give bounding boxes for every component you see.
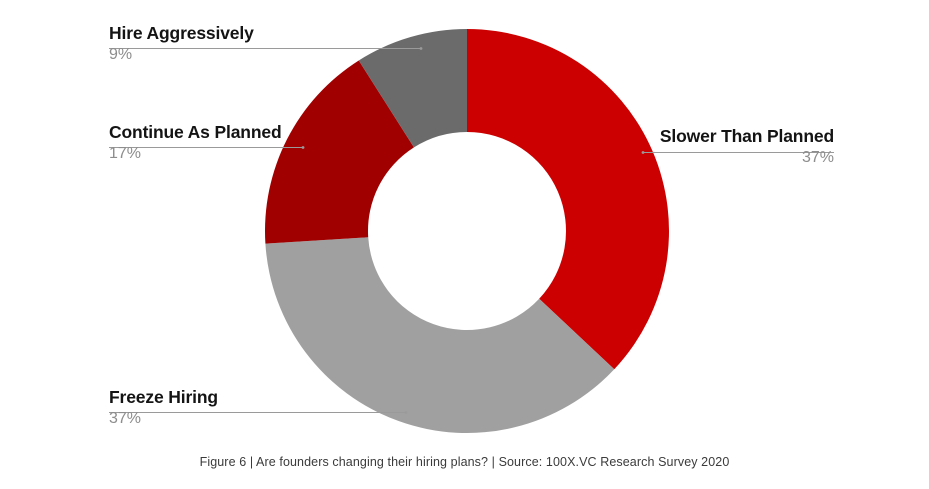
slice-label-value: 9%: [109, 45, 254, 65]
figure-caption: Figure 6 | Are founders changing their h…: [0, 455, 929, 469]
slice-label-title: Slower Than Planned: [643, 126, 834, 146]
leader-dot-continue-as-planned: [302, 146, 305, 149]
slice-label-continue-as-planned: Continue As Planned 17%: [109, 122, 281, 164]
donut-slice-slower-than-planned[interactable]: [467, 29, 669, 369]
slice-label-title: Continue As Planned: [109, 122, 281, 142]
donut-chart-figure: Hire Aggressively 9% Continue As Planned…: [0, 0, 929, 489]
slice-label-hire-aggressively: Hire Aggressively 9%: [109, 23, 254, 65]
slice-label-slower-than-planned: Slower Than Planned 37%: [643, 126, 834, 168]
leader-dot-hire-aggressively: [420, 47, 423, 50]
slice-label-title: Hire Aggressively: [109, 23, 254, 43]
slice-label-value: 37%: [643, 148, 834, 168]
leader-dot-freeze-hiring: [405, 411, 408, 414]
slice-label-freeze-hiring: Freeze Hiring 37%: [109, 387, 218, 429]
slice-label-value: 17%: [109, 144, 281, 164]
slice-label-title: Freeze Hiring: [109, 387, 218, 407]
slice-label-value: 37%: [109, 409, 218, 429]
